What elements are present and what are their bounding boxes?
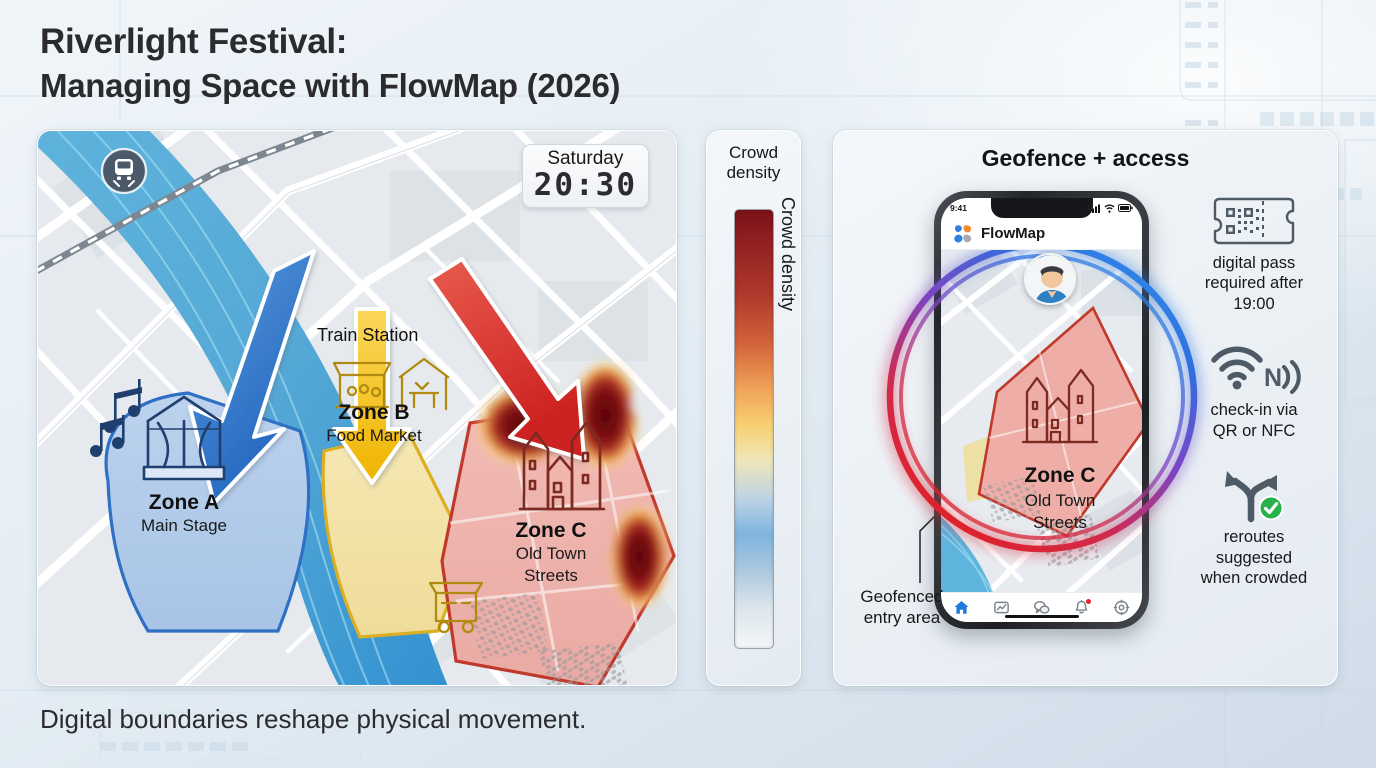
zone-c-subtitle-1: Old Town (516, 544, 587, 563)
zone-c-subtitle-2: Streets (524, 566, 578, 585)
clock-time: 20:30 (534, 169, 637, 202)
clock-day: Saturday (534, 149, 637, 169)
feature-checkin-text: check-in via QR or NFC (1179, 400, 1329, 441)
legend-title-line-1: Crowd (707, 143, 800, 163)
crowd-density-gradient-bar (734, 209, 774, 649)
bell-icon-wrapper[interactable] (1073, 599, 1090, 616)
legend-title: Crowd density (707, 131, 800, 183)
feature-2-line-2: suggested (1179, 548, 1329, 568)
ticket-qr-icon (1179, 193, 1329, 249)
home-icon[interactable] (953, 599, 970, 616)
feature-digital-pass: digital pass required after 19:00 (1179, 193, 1329, 314)
clock-badge: Saturday 20:30 (522, 144, 649, 208)
map-panel[interactable]: Zone A Main Stage Zone B Food Market Zon… (37, 130, 677, 686)
svg-text:N: N (1264, 364, 1282, 392)
feature-0-line-2: required after (1179, 273, 1329, 293)
feature-reroutes: reroutes suggested when crowded (1179, 467, 1329, 588)
reroute-check-icon (1179, 467, 1329, 523)
zone-a-subtitle: Main Stage (141, 516, 227, 535)
feature-digital-pass-text: digital pass required after 19:00 (1179, 253, 1329, 314)
flowmap-logo-icon (952, 223, 974, 245)
train-station-icon (102, 149, 146, 193)
feature-list: digital pass required after 19:00 N (1179, 193, 1329, 615)
title-line-2: Managing Space with FlowMap (2026) (40, 65, 620, 107)
phone-zone-sub-2: Streets (1033, 513, 1087, 532)
title-line-1: Riverlight Festival: (40, 20, 620, 65)
zone-c-title: Zone C (515, 519, 586, 542)
app-name: FlowMap (981, 225, 1045, 242)
user-avatar[interactable] (1024, 253, 1076, 305)
legend-title-line-2: density (707, 163, 800, 183)
chart-icon[interactable] (993, 599, 1010, 616)
app-header: FlowMap (941, 218, 1142, 250)
feature-1-line-2: QR or NFC (1179, 421, 1329, 441)
geofence-panel: Geofence + access 9:4 (833, 130, 1338, 686)
phone-notch (991, 198, 1093, 218)
chat-icon[interactable] (1033, 599, 1050, 616)
notification-badge (1085, 598, 1092, 605)
wifi-nfc-icon: N (1179, 340, 1329, 396)
feature-checkin: N check-in via QR or NFC (1179, 340, 1329, 441)
feature-reroutes-text: reroutes suggested when crowded (1179, 527, 1329, 588)
wifi-icon (1104, 204, 1115, 213)
home-indicator (1005, 615, 1079, 619)
legend-axis-label: Crowd density (777, 197, 798, 311)
zone-a-title: Zone A (149, 491, 219, 514)
bottom-caption: Digital boundaries reshape physical move… (40, 704, 586, 735)
feature-0-line-1: digital pass (1179, 253, 1329, 273)
legend-panel: Crowd density Crowd density (706, 130, 801, 686)
zone-b-subtitle: Food Market (326, 426, 422, 445)
zone-b-title: Zone B (338, 401, 409, 424)
geofence-panel-title: Geofence + access (834, 131, 1337, 172)
battery-icon (1118, 204, 1133, 212)
page-title: Riverlight Festival: Managing Space with… (40, 20, 620, 107)
cobblestone-texture (470, 593, 548, 659)
feature-1-line-1: check-in via (1179, 400, 1329, 420)
phone-zone-title: Zone C (1024, 464, 1095, 487)
feature-2-line-1: reroutes (1179, 527, 1329, 547)
status-time: 9:41 (950, 203, 967, 213)
train-station-label: Train Station (317, 325, 418, 346)
phone-zone-sub-1: Old Town (1025, 491, 1096, 510)
settings-icon[interactable] (1113, 599, 1130, 616)
feature-2-line-3: when crowded (1179, 568, 1329, 588)
festival-map[interactable]: Zone A Main Stage Zone B Food Market Zon… (38, 131, 677, 686)
feature-0-line-3: 19:00 (1179, 294, 1329, 314)
